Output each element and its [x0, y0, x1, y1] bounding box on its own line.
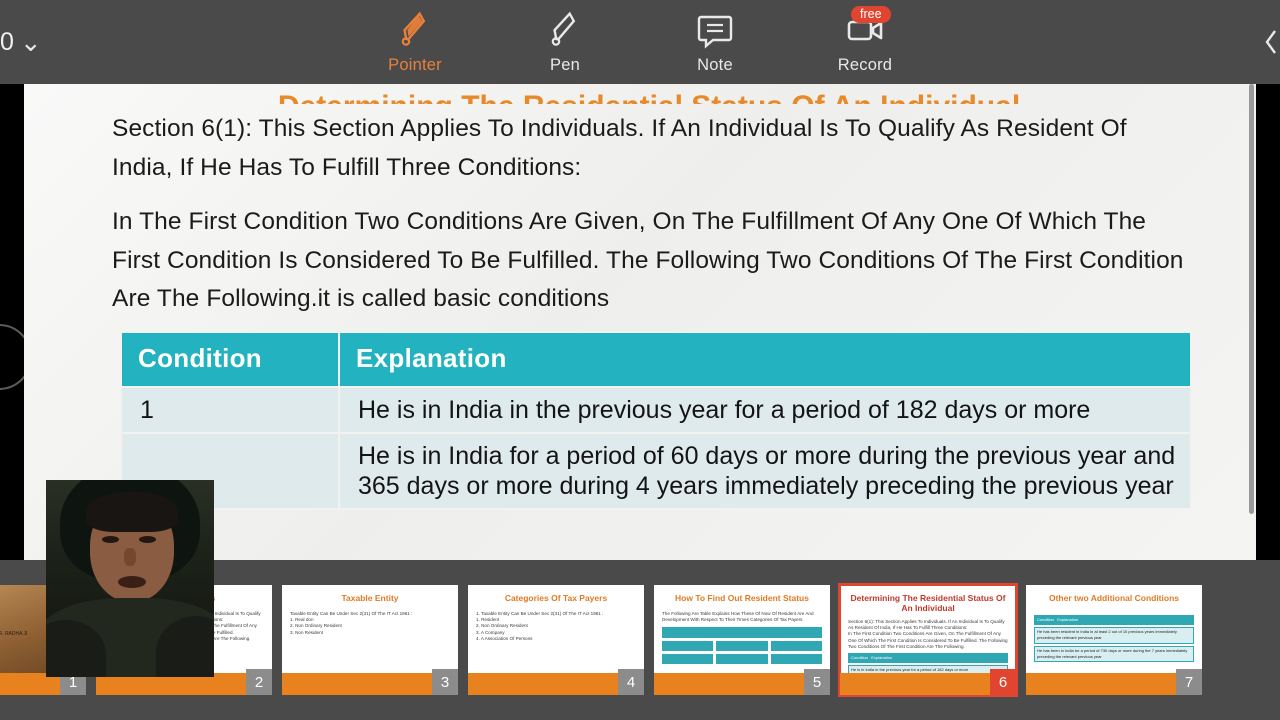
- filmstrip-slide-5-title: How To Find Out Resident Status: [654, 593, 830, 603]
- filmstrip-slide-7-body: Condition Explanation He has been reside…: [1034, 615, 1194, 673]
- record-free-badge: free: [851, 6, 891, 24]
- filmstrip-slide-3-body: Taxable Entity Can Be Under Sec 2(31) Of…: [290, 611, 450, 673]
- slide-paragraph-2: In The First Condition Two Conditions Ar…: [112, 203, 1186, 319]
- filmstrip-slide-7-table-row-1: He has been resident in India in at leas…: [1034, 627, 1194, 643]
- filmstrip-slide-5-flow: [662, 641, 822, 651]
- note-icon: [695, 10, 735, 50]
- toolbar-right-handle[interactable]: [1262, 0, 1280, 84]
- filmstrip-slide-6-body: Section 6(1): This Section Applies To In…: [848, 619, 1008, 673]
- filmstrip-slide-5[interactable]: How To Find Out Resident Status The Foll…: [654, 585, 830, 695]
- filmstrip-slide-5-line-1: The Following Are Table Explains How The…: [662, 611, 822, 623]
- page-counter: 0: [0, 28, 14, 57]
- tool-pen-label: Pen: [550, 56, 580, 75]
- filmstrip-slide-3-number: 3: [432, 669, 458, 695]
- tool-group: Pointer Pen: [369, 10, 911, 75]
- filmstrip-slide-7-table-row-2: He has been in India for a period of 730…: [1034, 646, 1194, 662]
- app-root: 0 ⌄ Pointer: [0, 0, 1280, 720]
- table-row: He is in India for a period of 60 days o…: [121, 433, 1191, 509]
- toolbar-left-group: 0 ⌄: [0, 0, 42, 84]
- filmstrip-slide-5-flow-2: [662, 654, 822, 664]
- tool-note[interactable]: Note: [669, 10, 761, 75]
- table-cell-explanation-2: He is in India for a period of 60 days o…: [339, 433, 1191, 509]
- table-cell-condition-1: 1: [121, 387, 339, 433]
- table-row: 1 He is in India in the previous year fo…: [121, 387, 1191, 433]
- pointer-pen-icon: [398, 10, 432, 50]
- filmstrip-slide-6[interactable]: Determining The Residential Status Of An…: [840, 585, 1016, 695]
- filmstrip-slide-4-body: 1. Taxable Entity Can Be Under Sec 2(31)…: [476, 611, 636, 673]
- top-toolbar: 0 ⌄ Pointer: [0, 0, 1280, 84]
- filmstrip-slide-3[interactable]: Taxable Entity Taxable Entity Can Be Und…: [282, 585, 458, 695]
- conditions-table: Condition Explanation 1 He is in India i…: [120, 331, 1192, 510]
- pen-icon: [548, 10, 582, 50]
- filmstrip-slide-7-table-head: Condition Explanation: [1034, 615, 1194, 625]
- filmstrip-slide-7-title: Other two Additional Conditions: [1026, 593, 1202, 603]
- filmstrip-slide-7[interactable]: Other two Additional Conditions Conditio…: [1026, 585, 1202, 695]
- filmstrip-slide-2-number: 2: [246, 669, 272, 695]
- table-header-row: Condition Explanation: [121, 332, 1191, 387]
- table-cell-explanation-1: He is in India in the previous year for …: [339, 387, 1191, 433]
- tool-record[interactable]: free Record: [819, 10, 911, 75]
- table-header-explanation: Explanation: [339, 332, 1191, 387]
- chevron-left-icon: [1262, 25, 1280, 59]
- table-header-condition: Condition: [121, 332, 339, 387]
- filmstrip-slide-3-line-4: 3. Non Resident: [290, 630, 450, 636]
- filmstrip-slide-4-number: 4: [618, 669, 644, 695]
- filmstrip-slide-6-number: 6: [990, 669, 1016, 695]
- filmstrip-slide-3-title: Taxable Entity: [282, 593, 458, 603]
- slide-paragraph-1: Section 6(1): This Section Applies To In…: [112, 110, 1186, 187]
- filmstrip-slide-5-body: The Following Are Table Explains How The…: [662, 611, 822, 673]
- filmstrip-slide-4[interactable]: Categories Of Tax Payers 1. Taxable Enti…: [468, 585, 644, 695]
- filmstrip-slide-5-flow-head: [662, 627, 822, 637]
- tool-pen[interactable]: Pen: [519, 10, 611, 75]
- filmstrip-slide-6-title: Determining The Residential Status Of An…: [840, 593, 1016, 613]
- tool-pointer-label: Pointer: [388, 56, 442, 75]
- tool-note-label: Note: [697, 56, 733, 75]
- filmstrip-slide-4-line-5: 4. A Association Of Persons: [476, 636, 636, 642]
- tool-record-label: Record: [838, 56, 892, 75]
- filmstrip-slide-4-title: Categories Of Tax Payers: [468, 593, 644, 603]
- filmstrip-slide-6-line-1: Section 6(1): This Section Applies To In…: [848, 619, 1008, 631]
- filmstrip-slide-6-table-row-1: He is in India in the previous year for …: [848, 665, 1008, 673]
- filmstrip-slide-6-line-2: In The First Condition Two Conditions Ar…: [848, 631, 1008, 650]
- presenter-webcam[interactable]: [46, 480, 214, 677]
- chevron-double-down-icon[interactable]: ⌄: [18, 29, 42, 55]
- filmstrip-slide-7-number: 7: [1176, 669, 1202, 695]
- tool-pointer[interactable]: Pointer: [369, 10, 461, 75]
- filmstrip-slide-6-table-head: Condition Explanation: [848, 653, 1008, 663]
- slide-scrollbar[interactable]: [1248, 84, 1256, 560]
- slide-title-clipped: Determining The Residential Status Of An…: [112, 90, 1186, 104]
- filmstrip-slide-5-number: 5: [804, 669, 830, 695]
